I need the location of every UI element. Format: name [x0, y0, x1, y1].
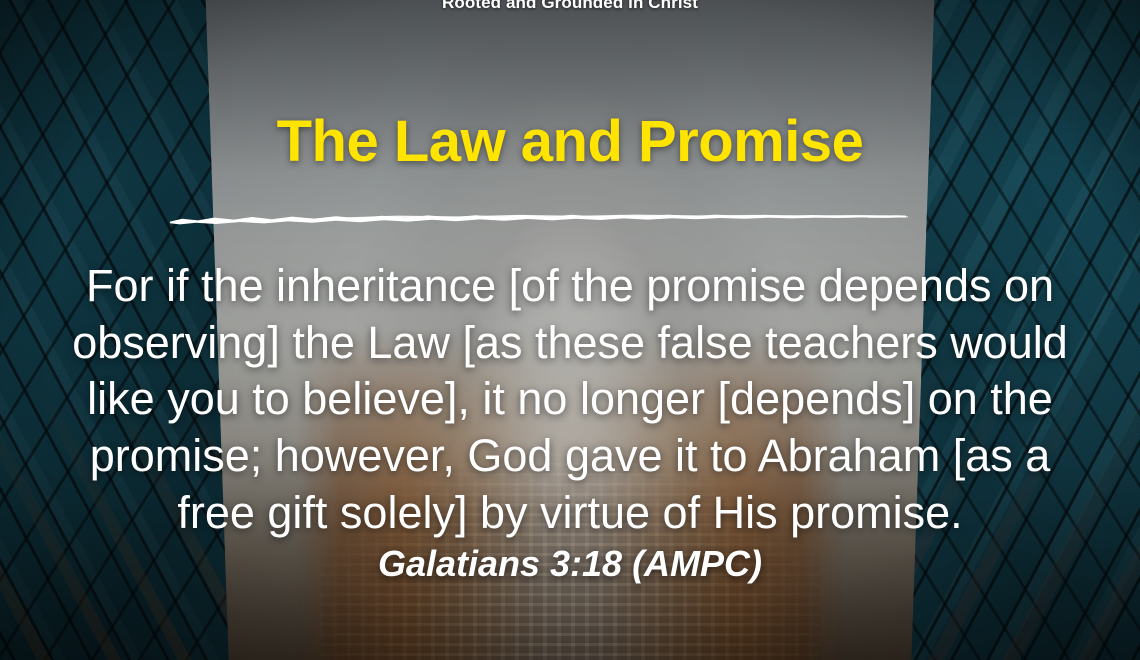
- page-title: The Law and Promise: [0, 113, 1140, 171]
- verse-text: For if the inheritance [of the promise d…: [52, 258, 1088, 541]
- brush-stroke-divider-icon: [168, 208, 908, 234]
- verse-block: For if the inheritance [of the promise d…: [52, 258, 1088, 586]
- series-banner: Rooted and Grounded in Christ: [0, 0, 1140, 13]
- sermon-slide: Rooted and Grounded in Christ The Law an…: [0, 0, 1140, 660]
- slide-content: Rooted and Grounded in Christ The Law an…: [0, 0, 1140, 660]
- verse-reference: Galatians 3:18 (AMPC): [52, 543, 1088, 585]
